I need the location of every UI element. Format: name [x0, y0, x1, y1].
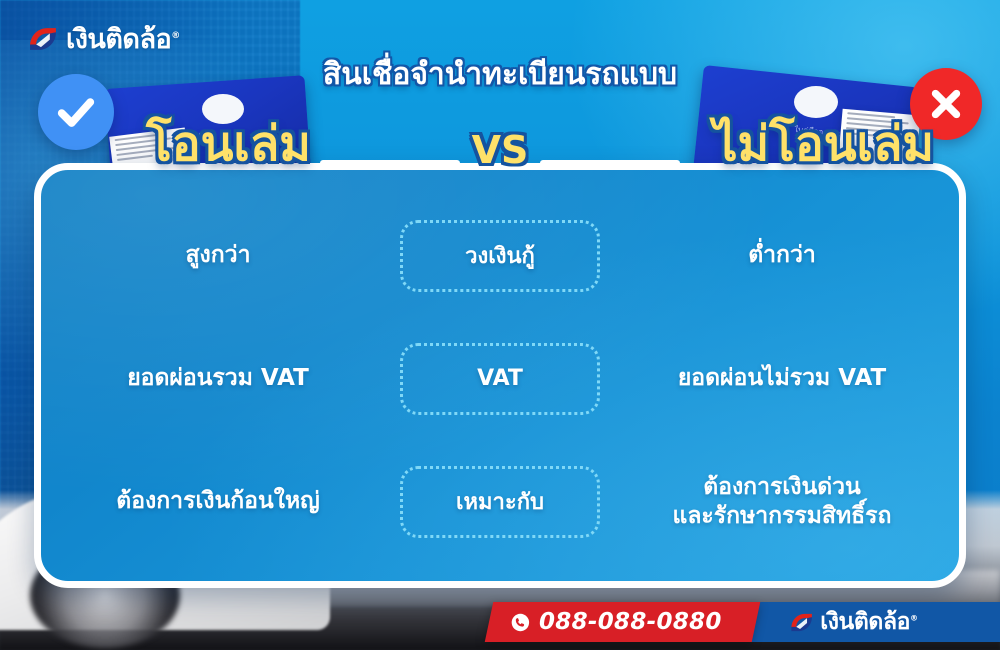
- registered-mark: ®: [171, 31, 180, 41]
- comparison-row-suitable-for: ต้องการเงินก้อนใหญ่ เหมาะกับ ต้องการเงิน…: [41, 450, 959, 554]
- phone-handset-icon: [511, 613, 530, 632]
- versus-rule-left: [320, 160, 460, 167]
- brand-logo: เงินติดล้อ®: [26, 22, 180, 56]
- comparison-panel: สูงกว่า วงเงินกู้ ต่ำกว่า ยอดผ่อนรวม VAT…: [34, 163, 966, 588]
- comparison-row-loan-amount: สูงกว่า วงเงินกู้ ต่ำกว่า: [41, 204, 959, 308]
- footer-ngerntidlor-s-swoosh-logo-icon: [788, 609, 815, 636]
- footer-registered-mark: ®: [910, 613, 918, 622]
- brand-wordmark: เงินติดล้อ®: [66, 26, 180, 53]
- row2-left-value: ยอดผ่อนรวม VAT: [41, 364, 395, 392]
- page-title: สินเชื่อจำนำทะเบียนรถแบบ: [0, 58, 1000, 91]
- left-column-title: โอนเล่ม: [146, 120, 311, 168]
- row3-right-value: ต้องการเงินด่วน และรักษากรรมสิทธิ์รถ: [605, 473, 959, 529]
- versus-rule-right: [540, 160, 680, 167]
- ngerntidlor-s-swoosh-logo-icon: [26, 22, 60, 56]
- row1-criterion-label: วงเงินกู้: [400, 220, 600, 292]
- row2-criterion-label: VAT: [400, 343, 600, 415]
- comparison-row-vat: ยอดผ่อนรวม VAT VAT ยอดผ่อนไม่รวม VAT: [41, 327, 959, 431]
- right-column-title: ไม่โอนเล่ม: [713, 120, 934, 168]
- versus-header-row: โอนเล่ม VS ไม่โอนเล่ม: [0, 112, 1000, 186]
- versus-label: VS: [472, 128, 529, 172]
- footer-brand-wordmark: เงินติดล้อ®: [820, 604, 917, 640]
- row2-right-value: ยอดผ่อนไม่รวม VAT: [605, 364, 959, 392]
- footer-phone-banner[interactable]: 088-088-0880: [485, 602, 760, 642]
- row3-right-line1: ต้องการเงินด่วน: [703, 474, 861, 500]
- row3-criterion-label: เหมาะกับ: [400, 466, 600, 538]
- row3-right-line2: และรักษากรรมสิทธิ์รถ: [673, 503, 892, 529]
- row1-right-value: ต่ำกว่า: [605, 241, 959, 269]
- footer-phone-number: 088-088-0880: [539, 609, 722, 635]
- footer-brand-band: เงินติดล้อ®: [740, 602, 1000, 642]
- row3-left-value: ต้องการเงินก้อนใหญ่: [41, 487, 395, 515]
- infographic-canvas: เงินติดล้อ® สินเชื่อจำนำทะเบียนรถแบบ ทะเ…: [0, 0, 1000, 650]
- row1-left-value: สูงกว่า: [41, 241, 395, 269]
